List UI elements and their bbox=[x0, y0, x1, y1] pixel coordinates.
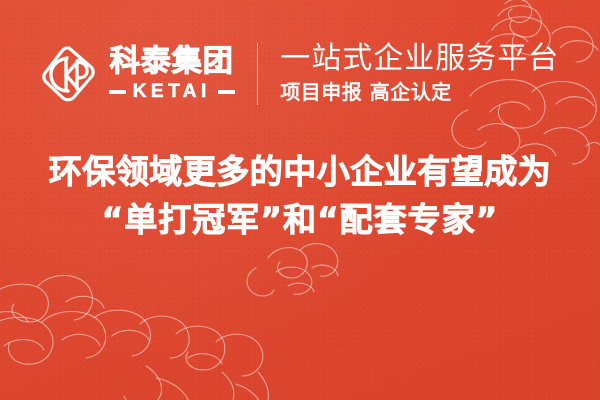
brand-name-cn: 科泰集团 bbox=[110, 47, 234, 78]
vertical-divider bbox=[257, 43, 259, 105]
banner-header: 科泰集团 KETAI 一站式企业服务平台 项目申报 高企认定 bbox=[0, 34, 600, 114]
slogan-sub-text: 项目申报 高企认定 bbox=[280, 79, 559, 106]
brand-name-en: KETAI bbox=[133, 82, 211, 101]
dash-right-icon bbox=[218, 90, 235, 94]
dash-left-icon bbox=[109, 90, 126, 94]
headline-block: 环保领域更多的中小企业有望成为 “单打冠军”和“配套专家” bbox=[0, 148, 600, 244]
headline-line-1: 环保领域更多的中小企业有望成为 bbox=[0, 148, 600, 196]
brand-wordmark: 科泰集团 KETAI bbox=[109, 47, 235, 102]
ketai-diamond-monogram-logo-icon bbox=[41, 45, 97, 103]
headline-line-2: “单打冠军”和“配套专家” bbox=[0, 196, 600, 244]
brand-name-en-row: KETAI bbox=[109, 82, 235, 101]
slogan-main-text: 一站式企业服务平台 bbox=[280, 42, 559, 76]
brand-logo: 科泰集团 KETAI bbox=[41, 45, 235, 103]
promo-banner: 科泰集团 KETAI 一站式企业服务平台 项目申报 高企认定 环保领域更多的中小… bbox=[0, 0, 600, 400]
slogan-block: 一站式企业服务平台 项目申报 高企认定 bbox=[280, 42, 559, 106]
